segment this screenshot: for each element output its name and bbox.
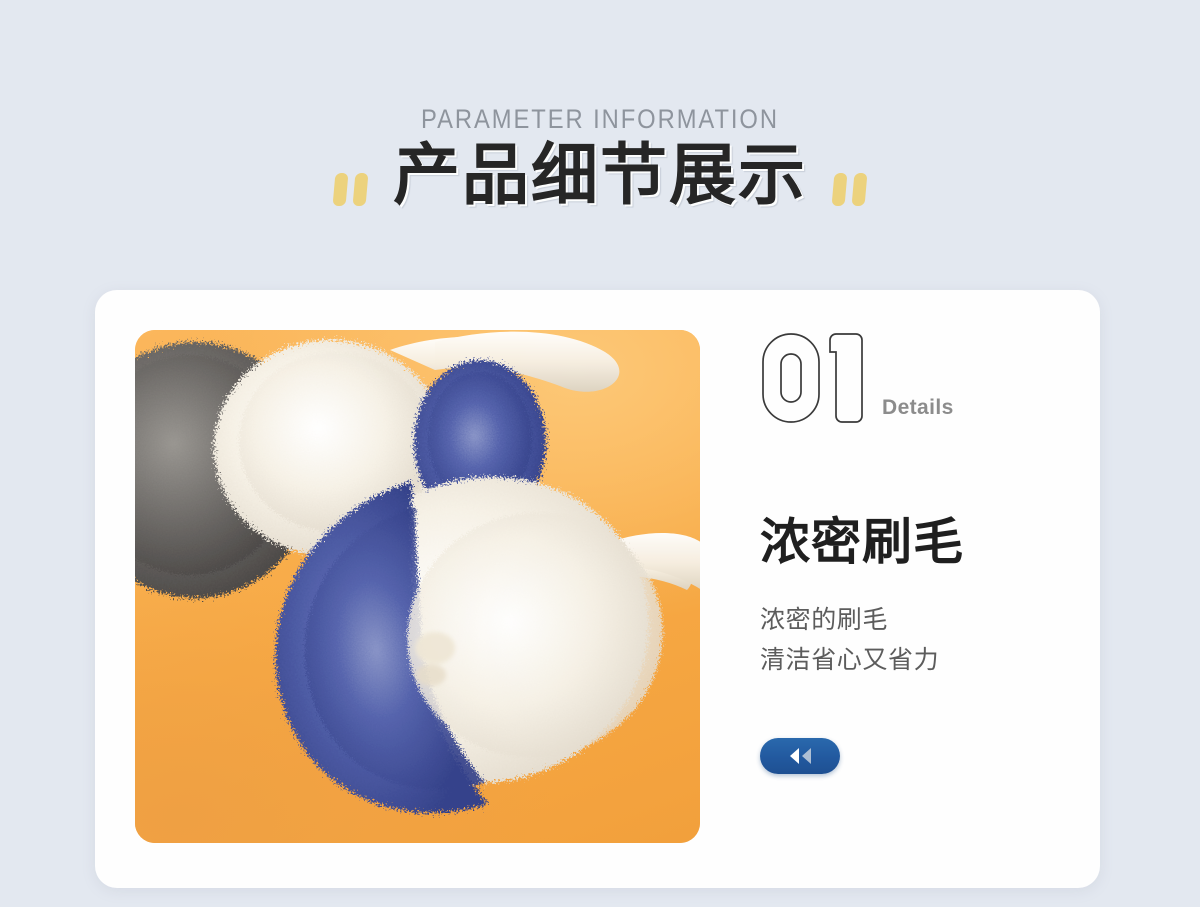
detail-subtext: 浓密的刷毛 清洁省心又省力 <box>760 600 1060 680</box>
detail-subtext-line-1: 浓密的刷毛 <box>760 600 1060 640</box>
detail-subtext-line-2: 清洁省心又省力 <box>760 640 1060 680</box>
section-eyebrow: PARAMETER INFORMATION <box>72 104 1128 135</box>
detail-number-group: Details <box>760 330 1060 426</box>
chevron-left-icon <box>790 748 799 764</box>
detail-info: Details 浓密刷毛 浓密的刷毛 清洁省心又省力 <box>760 330 1060 774</box>
previous-button[interactable] <box>760 738 840 774</box>
detail-number-label: Details <box>882 396 954 426</box>
product-photo <box>135 330 700 843</box>
quote-mark-left-icon <box>334 173 367 206</box>
detail-headline: 浓密刷毛 <box>760 502 1060 574</box>
number-01-outline-icon <box>760 330 868 426</box>
section-title-row: 产品细节展示 <box>0 141 1200 211</box>
page-header: PARAMETER INFORMATION 产品细节展示 <box>0 0 1200 260</box>
page-title: 产品细节展示 <box>393 141 807 211</box>
detail-card: Details 浓密刷毛 浓密的刷毛 清洁省心又省力 <box>95 290 1100 888</box>
photo-illustration <box>135 330 700 843</box>
quote-mark-right-icon <box>833 173 866 206</box>
chevron-left-secondary-icon <box>802 748 811 764</box>
